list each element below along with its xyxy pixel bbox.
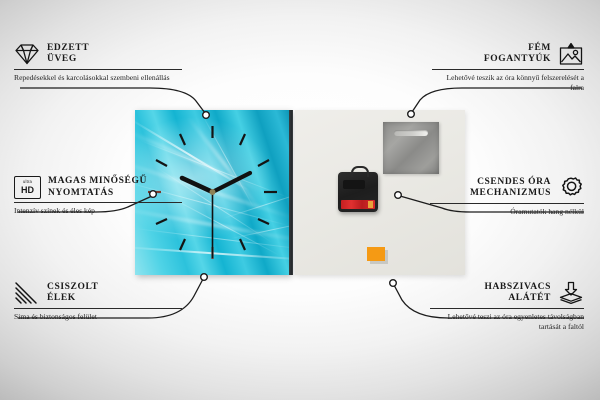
clock-center-cap [210,189,216,195]
hanger-loop [351,166,369,177]
metal-hanger-bracket [383,122,439,174]
feature-tempered-glass: EDZETT ÜVEG Repedésekkel és karcolásokka… [14,42,182,83]
title-line-2: NYOMTATÁS [48,188,114,198]
diamond-icon [14,42,40,66]
connector-dot-foam [390,280,397,287]
title-line-1: HABSZIVACS [484,282,551,292]
divider [14,202,182,203]
feature-title: HABSZIVACS ALÁTÉT [484,282,551,305]
feature-title: CSISZOLT ÉLEK [47,282,98,305]
title-line-2: MECHANIZMUS [470,188,551,198]
feature-title: FÉM FOGANTYÚK [484,43,551,66]
divider [430,308,584,309]
hanger-slot [394,130,428,136]
clock-minute-hand [213,173,251,192]
title-line-1: CSISZOLT [47,282,98,292]
ultra-hd-icon-large-label: HD [21,186,34,195]
clock-hour-hand [182,178,213,192]
feature-polished-edges: CSISZOLT ÉLEK Sima és biztonságos felüle… [14,281,182,322]
feature-description: Lehetővé teszi az óra egyenletes távolsá… [430,312,584,331]
feature-description: Sima és biztonságos felület [14,312,182,322]
title-line-1: FÉM [528,43,551,53]
title-line-1: MAGAS MINŐSÉGŰ [48,176,147,186]
foam-pad [367,247,385,261]
divider [14,308,182,309]
glass-edge [289,110,293,275]
feature-metal-handles: FÉM FOGANTYÚK Lehetővé teszik az óra kön… [432,42,584,92]
title-line-2: ALÁTÉT [508,293,551,303]
title-line-2: ÉLEK [47,293,76,303]
feature-title: EDZETT ÜVEG [47,43,89,66]
quartz-movement [338,172,378,212]
ultra-hd-icon-small-label: ultra [23,180,32,184]
feature-description: Óramutatók hang nélkül [430,207,584,217]
feature-foam-pad: HABSZIVACS ALÁTÉT Lehetővé teszi az óra … [430,281,584,331]
feature-title: CSENDES ÓRA MECHANIZMUS [470,177,551,200]
picture-hanger-icon [558,42,584,66]
product-photo [135,110,465,275]
feature-description: Lehetővé teszik az óra könnyű felszerelé… [432,73,584,92]
foam-pad-icon [558,281,584,305]
title-line-1: CSENDES ÓRA [477,177,551,187]
movement-slit [343,180,365,189]
divider [430,203,584,204]
feature-title: MAGAS MINŐSÉGŰ NYOMTATÁS [48,176,147,199]
title-line-2: ÜVEG [47,54,77,64]
battery [341,200,375,209]
title-line-2: FOGANTYÚK [484,54,551,64]
polished-edge-icon [14,281,40,305]
infographic-canvas: EDZETT ÜVEG Repedésekkel és karcolásokka… [0,0,600,400]
feature-description: Intenzív színek és éles kép [14,206,182,216]
feature-high-quality-print: ultra HD MAGAS MINŐSÉGŰ NYOMTATÁS Intenz… [14,176,182,216]
ultra-hd-icon: ultra HD [14,176,41,199]
gear-icon [558,176,584,200]
divider [14,69,182,70]
feature-description: Repedésekkel és karcolásokkal szembeni e… [14,73,182,83]
divider [432,69,584,70]
feature-quiet-mechanism: CSENDES ÓRA MECHANIZMUS Óramutatók hang … [430,176,584,217]
title-line-1: EDZETT [47,43,89,53]
